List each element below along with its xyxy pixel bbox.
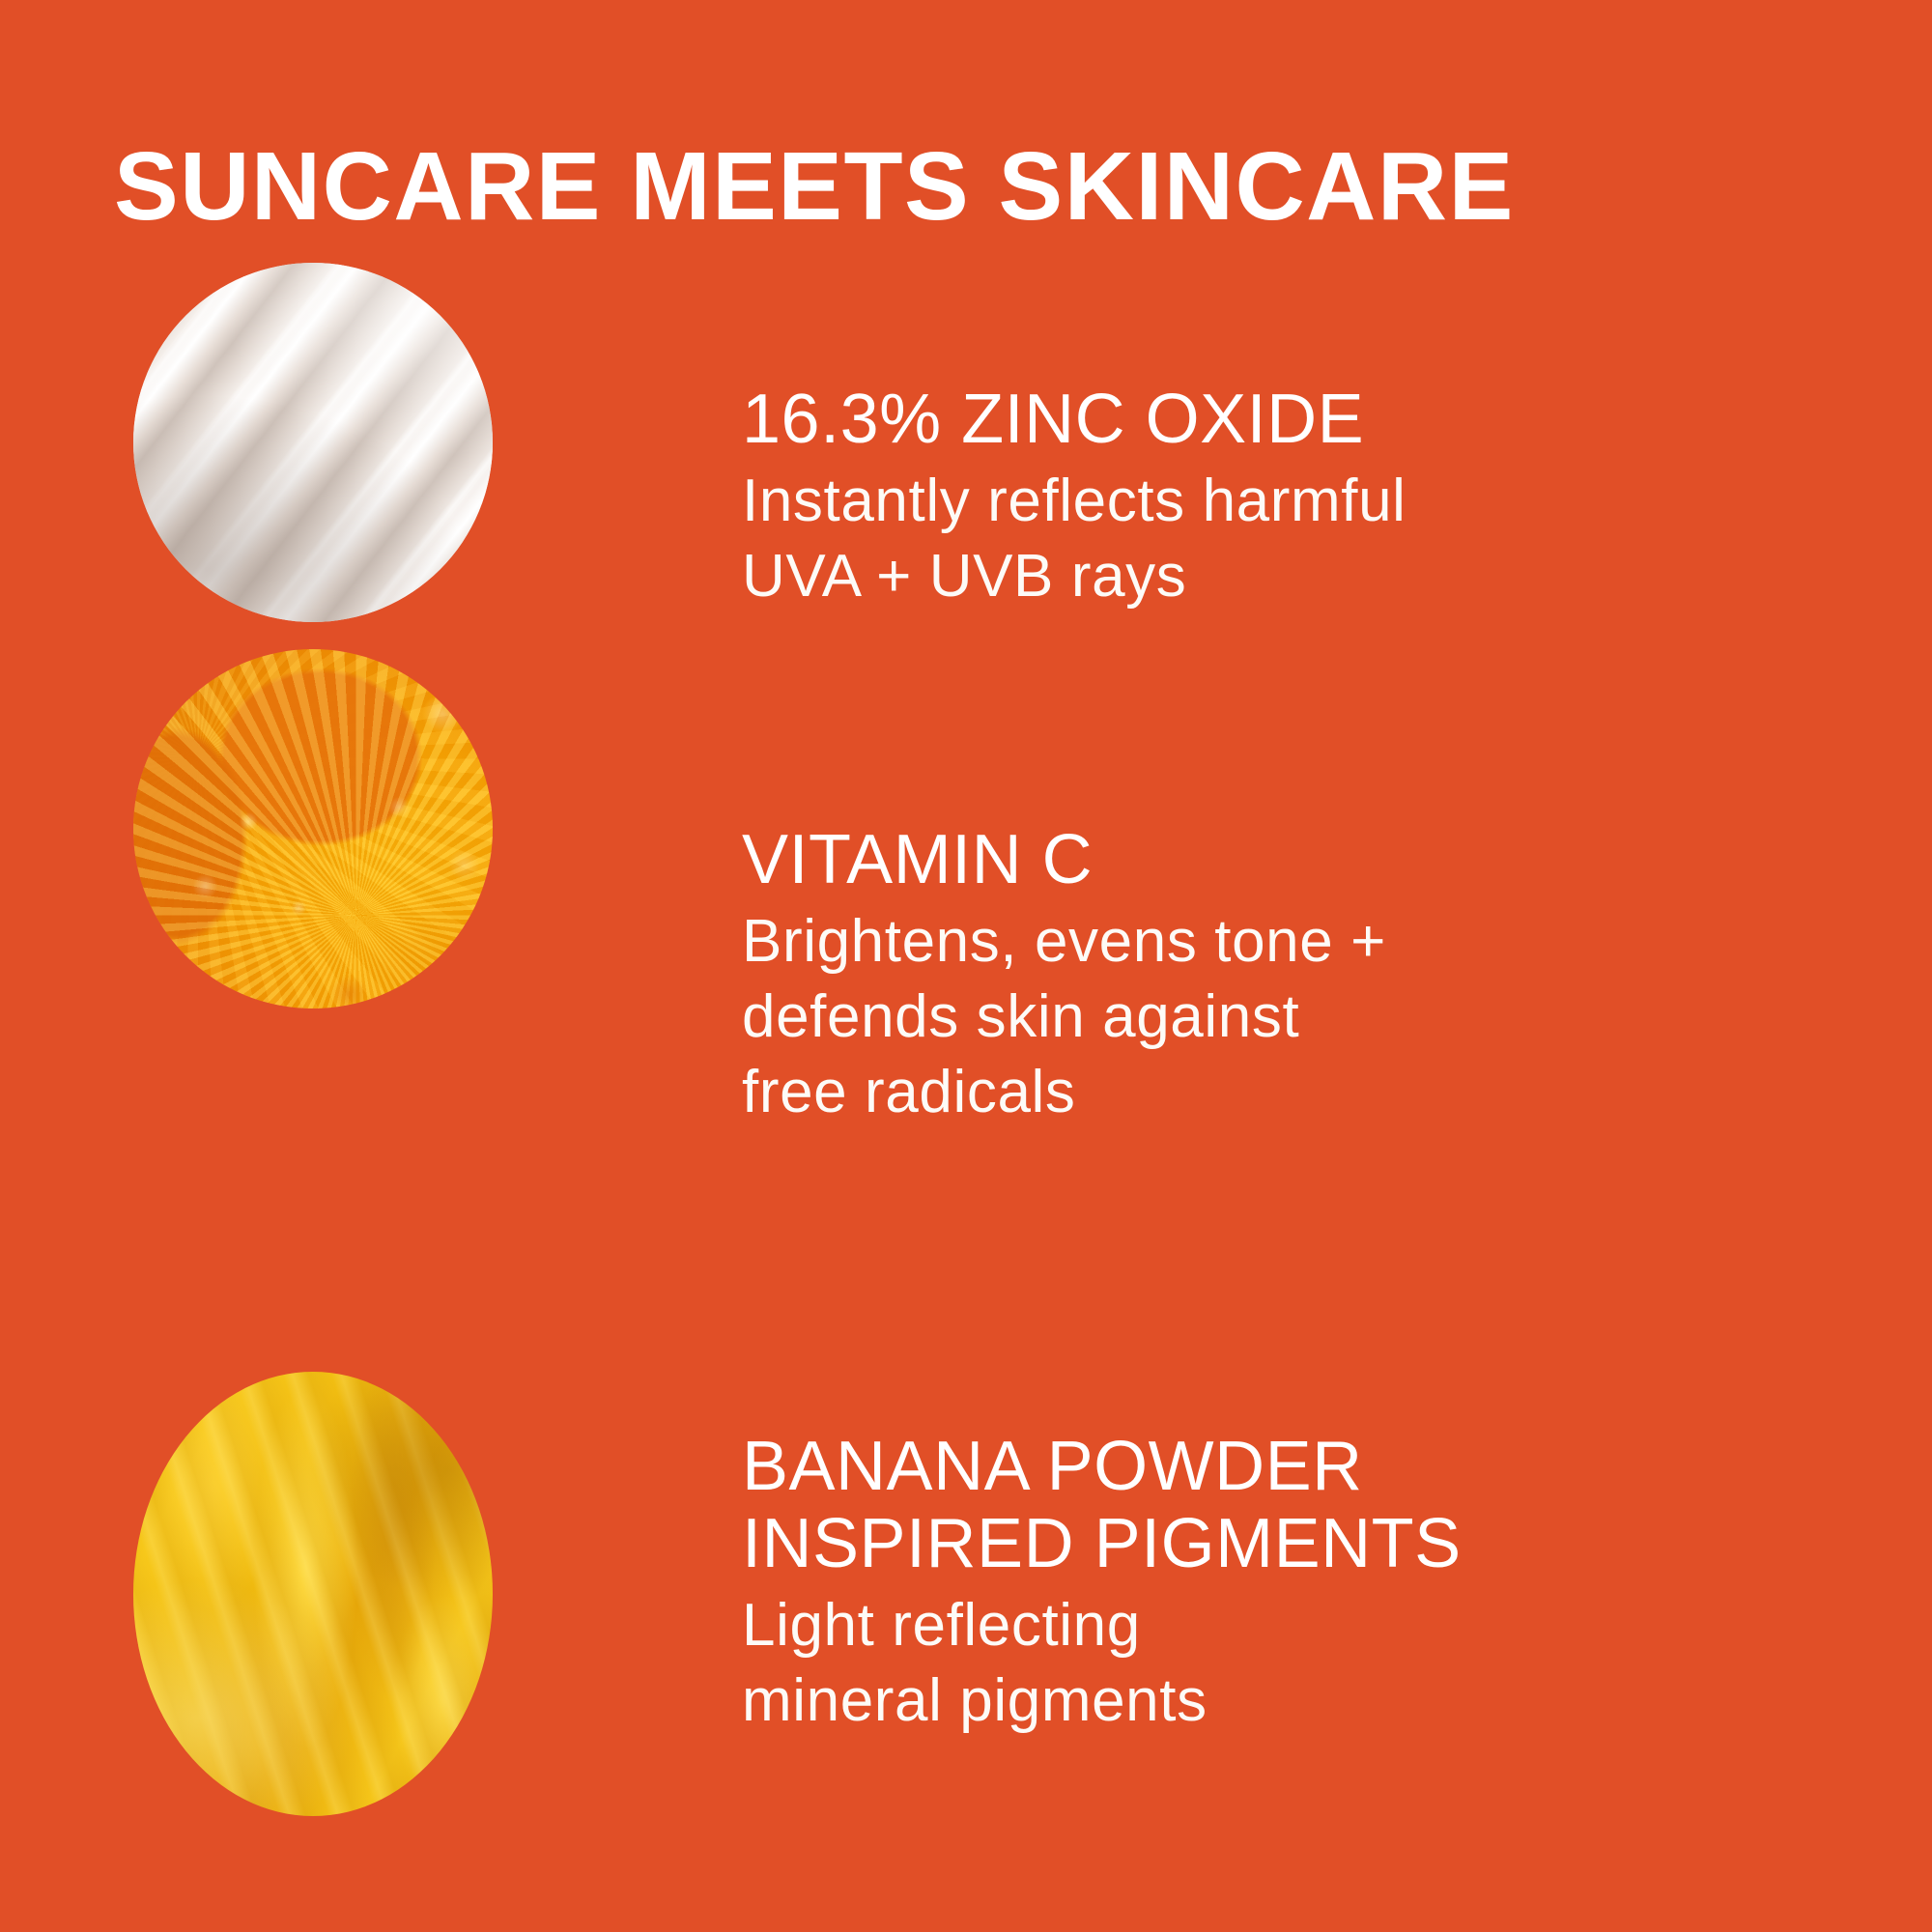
ingredient-title: BANANA POWDER INSPIRED PIGMENTS bbox=[742, 1428, 1882, 1582]
citrus-bubbles-layer bbox=[133, 649, 493, 1009]
ingredient-copy-zinc-oxide: 16.3% ZINC OXIDE Instantly reflects harm… bbox=[742, 381, 1882, 614]
white-cream-texture-circle bbox=[133, 263, 493, 622]
banana-shade-layer bbox=[133, 1372, 493, 1816]
ingredient-title: 16.3% ZINC OXIDE bbox=[742, 381, 1882, 458]
ingredient-description: Brightens, evens tone + defends skin aga… bbox=[742, 904, 1882, 1130]
page-title: SUNCARE MEETS SKINCARE bbox=[114, 134, 1853, 239]
cream-shade-layer bbox=[133, 263, 493, 622]
orange-citrus-gel-circle bbox=[133, 649, 493, 1009]
yellow-banana-circle bbox=[133, 1372, 493, 1816]
suncare-infographic-poster: SUNCARE MEETS SKINCARE 16.3% ZINC OXIDE … bbox=[0, 0, 1932, 1932]
ingredient-copy-banana-powder: BANANA POWDER INSPIRED PIGMENTS Light re… bbox=[742, 1428, 1882, 1739]
ingredient-description: Instantly reflects harmful UVA + UVB ray… bbox=[742, 464, 1882, 614]
ingredient-copy-vitamin-c: VITAMIN C Brightens, evens tone + defend… bbox=[742, 821, 1882, 1130]
ingredient-title: VITAMIN C bbox=[742, 821, 1882, 898]
ingredient-description: Light reflecting mineral pigments bbox=[742, 1588, 1882, 1739]
